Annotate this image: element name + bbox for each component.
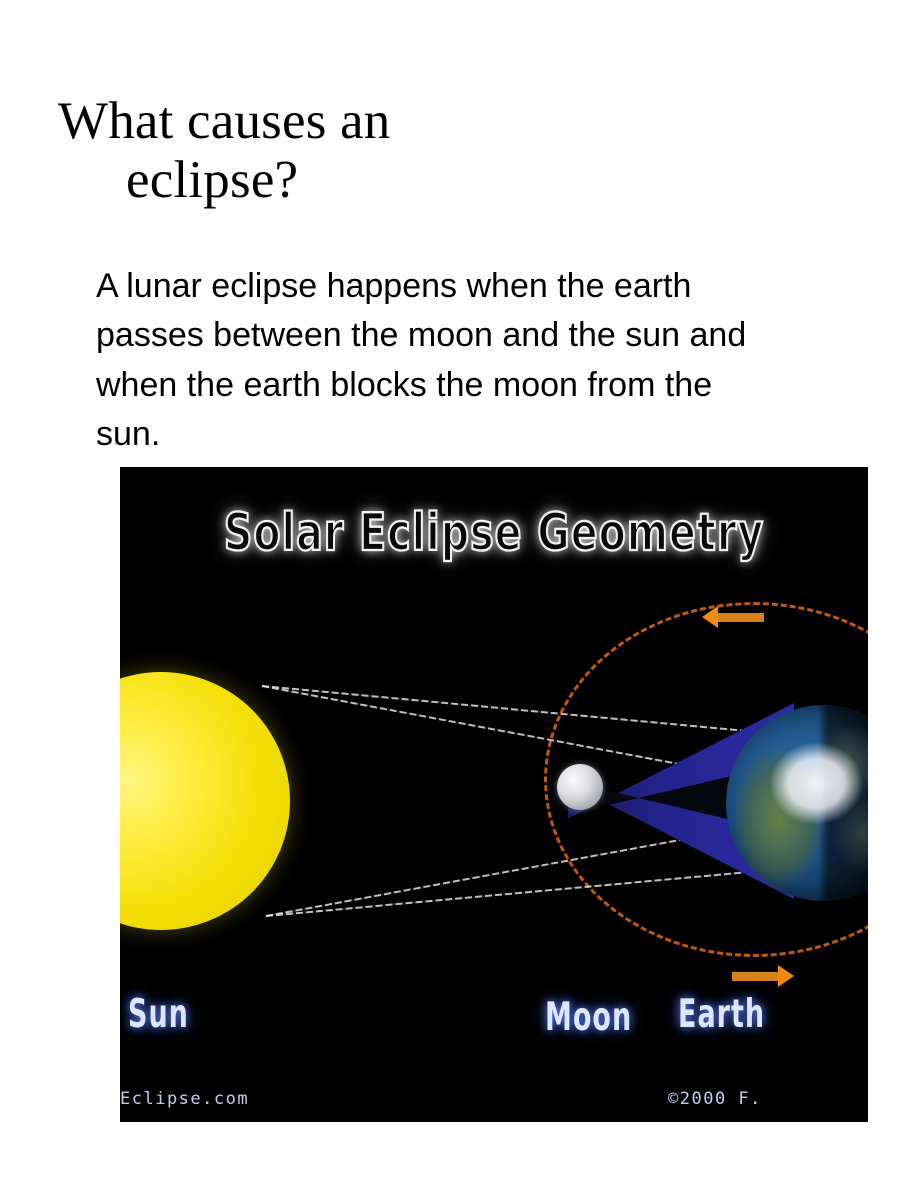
diagram-credit-site: Eclipse.com — [120, 1089, 249, 1109]
page-title-line-1: What causes an — [58, 92, 390, 150]
body-paragraph: A lunar eclipse happens when the earth p… — [96, 262, 776, 459]
page-title: What causes an eclipse? — [58, 92, 858, 211]
page-title-line-2: eclipse? — [58, 151, 858, 210]
sun-icon — [120, 672, 290, 930]
diagram-label-earth: Earth — [678, 992, 765, 1038]
orbit-direction-arrow-bottom-icon — [732, 972, 778, 981]
diagram-heading: Solar Eclipse Geometry — [120, 503, 868, 563]
diagram-label-moon: Moon — [545, 995, 632, 1041]
moon-icon — [557, 764, 603, 810]
diagram-credit-copyright: ©2000 F. — [668, 1089, 762, 1109]
orbit-direction-arrow-top-icon — [718, 613, 764, 622]
eclipse-geometry-diagram: Solar Eclipse Geometry Sun Moon Earth Ec… — [120, 467, 868, 1122]
diagram-label-sun: Sun — [128, 992, 189, 1038]
